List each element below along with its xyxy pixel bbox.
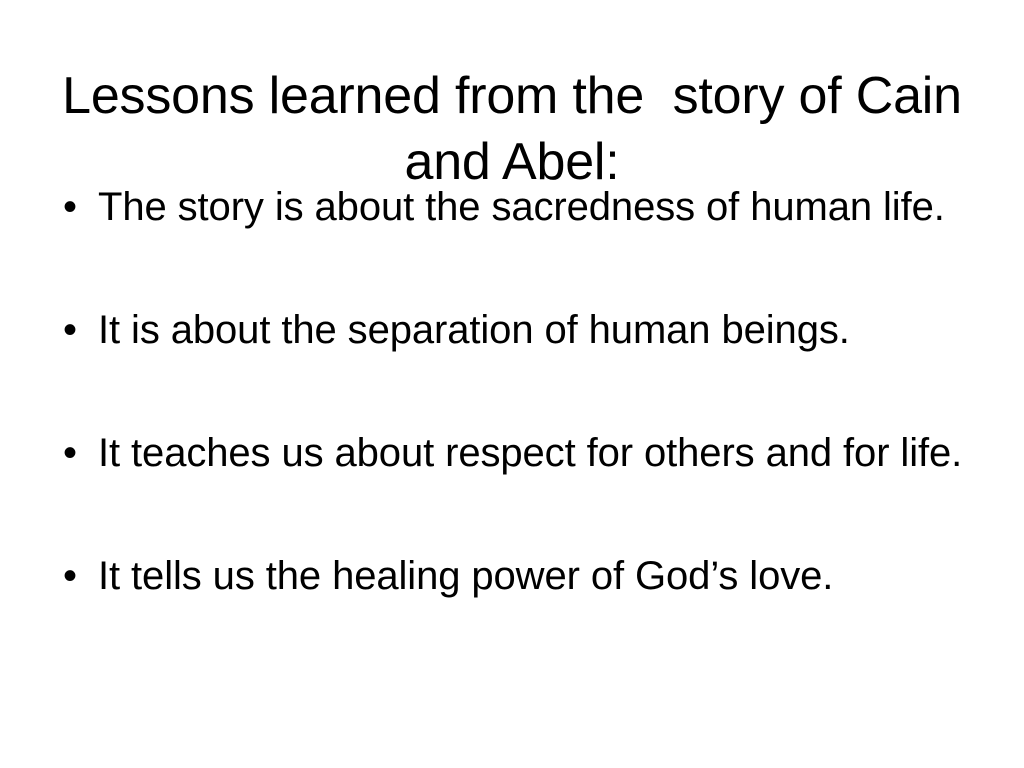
slide-title: Lessons learned from the story of Cain a…: [60, 63, 964, 195]
bullet-text: It teaches us about respect for others a…: [98, 428, 986, 478]
bullet-text: The story is about the sacredness of hum…: [98, 182, 986, 232]
bullet-point-icon: •: [56, 551, 98, 601]
bullet-text: It tells us the healing power of God’s l…: [98, 551, 986, 601]
bullet-text: It is about the separation of human bein…: [98, 305, 986, 355]
bullet-point-icon: •: [56, 182, 98, 232]
list-item: • The story is about the sacredness of h…: [56, 182, 986, 305]
list-item: • It tells us the healing power of God’s…: [56, 551, 986, 674]
presentation-slide: Lessons learned from the story of Cain a…: [0, 0, 1024, 768]
bullet-list: • The story is about the sacredness of h…: [56, 182, 986, 674]
list-item: • It is about the separation of human be…: [56, 305, 986, 428]
bullet-point-icon: •: [56, 428, 98, 478]
list-item: • It teaches us about respect for others…: [56, 428, 986, 551]
bullet-point-icon: •: [56, 305, 98, 355]
